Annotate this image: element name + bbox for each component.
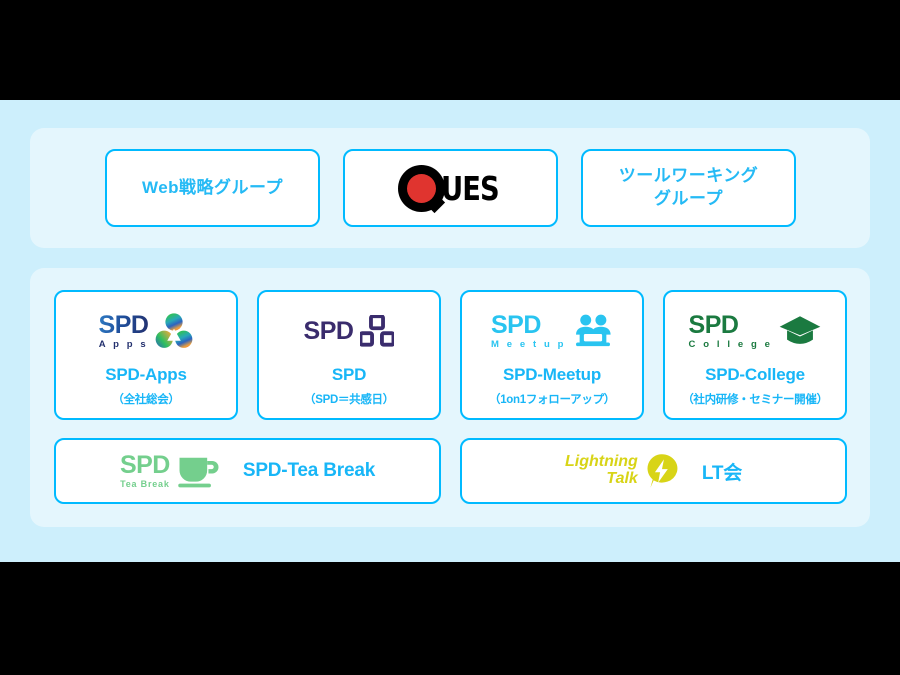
card-tool-working-group-label-line2: グループ bbox=[654, 188, 723, 211]
spd-apps-logo-word: SPD bbox=[99, 313, 149, 338]
top-groups-panel: Web戦略グループ UES ツールワーキング グループ bbox=[30, 128, 870, 248]
spd-apps-logo-text: SPD A p p s bbox=[99, 313, 149, 350]
screenshot-root: Web戦略グループ UES ツールワーキング グループ bbox=[0, 0, 900, 675]
card-spd-meetup[interactable]: SPD M e e t u p bbox=[460, 290, 644, 420]
card-ques[interactable]: UES bbox=[343, 149, 558, 227]
spd-meetup-logo-text: SPD M e e t u p bbox=[491, 313, 566, 350]
card-spd-apps-note: （全社総会） bbox=[112, 391, 179, 407]
services-panel: SPD A p p s bbox=[30, 268, 870, 527]
spd-logo-text: SPD bbox=[304, 319, 354, 344]
squares-icon bbox=[360, 315, 394, 347]
spd-college-logo-text: SPD C o l l e g e bbox=[689, 313, 773, 350]
card-spd-meetup-title: SPD-Meetup bbox=[503, 365, 601, 385]
card-lt-kai[interactable]: Lightning Talk LT会 bbox=[460, 438, 847, 504]
card-spd-college[interactable]: SPD C o l l e g e SPD-College （社内研修・セミナー… bbox=[663, 290, 847, 420]
spd-meetup-logo-word: SPD bbox=[491, 313, 566, 338]
card-spd-apps-title: SPD-Apps bbox=[105, 365, 187, 385]
letterbox-bar-bottom bbox=[0, 562, 900, 675]
spd-tea-break-logo-text: SPD Tea Break bbox=[120, 453, 170, 489]
spd-college-logo: SPD C o l l e g e bbox=[689, 308, 822, 354]
spd-tea-break-logo-word: SPD bbox=[120, 453, 170, 478]
graduation-cap-icon bbox=[779, 315, 821, 347]
lightning-talk-logo-text: Lightning Talk bbox=[565, 454, 638, 488]
ques-logo-letters: UES bbox=[441, 172, 499, 205]
slide-stage: Web戦略グループ UES ツールワーキング グループ bbox=[0, 100, 900, 562]
card-web-strategy-group[interactable]: Web戦略グループ bbox=[105, 149, 320, 227]
lightning-talk-logo: Lightning Talk bbox=[565, 453, 680, 489]
ques-logo: UES bbox=[398, 167, 504, 209]
teacup-icon bbox=[177, 454, 221, 488]
card-spd[interactable]: SPD SPD （SPD＝共感日） bbox=[257, 290, 441, 420]
card-spd-tea-break-title: SPD-Tea Break bbox=[243, 460, 375, 482]
card-spd-apps[interactable]: SPD A p p s bbox=[54, 290, 238, 420]
spd-meetup-logo-sub: M e e t u p bbox=[491, 340, 566, 350]
lightning-talk-logo-line2: Talk bbox=[565, 471, 638, 488]
card-tool-working-group-label-line1: ツールワーキング bbox=[619, 165, 759, 188]
spd-logo: SPD bbox=[304, 308, 395, 354]
people-laptop-icon bbox=[573, 314, 613, 348]
spd-logo-word: SPD bbox=[304, 319, 354, 344]
lightning-talk-logo-line1: Lightning bbox=[565, 454, 638, 471]
card-spd-college-title: SPD-College bbox=[705, 365, 805, 385]
card-lt-kai-title: LT会 bbox=[702, 458, 742, 485]
lightning-bolt-bubble-icon bbox=[644, 453, 680, 489]
card-spd-college-note: （社内研修・セミナー開催） bbox=[682, 391, 828, 407]
spd-meetup-logo: SPD M e e t u p bbox=[491, 308, 613, 354]
card-spd-tea-break[interactable]: SPD Tea Break SPD-Tea Break bbox=[54, 438, 441, 504]
spd-apps-logo-sub: A p p s bbox=[99, 340, 149, 350]
spd-tea-break-logo: SPD Tea Break bbox=[120, 448, 221, 494]
card-web-strategy-group-label: Web戦略グループ bbox=[142, 177, 283, 200]
card-spd-note: （SPD＝共感日） bbox=[304, 391, 394, 407]
spd-college-logo-word: SPD bbox=[689, 313, 773, 338]
letterbox-bar-top bbox=[0, 0, 900, 100]
ques-q-mark-icon bbox=[398, 165, 445, 212]
trefoil-icon bbox=[155, 313, 193, 349]
spd-college-logo-sub: C o l l e g e bbox=[689, 340, 773, 350]
card-spd-meetup-note: （1on1フォローアップ） bbox=[489, 391, 615, 407]
card-tool-working-group[interactable]: ツールワーキング グループ bbox=[581, 149, 796, 227]
card-spd-title: SPD bbox=[332, 365, 366, 385]
spd-tea-break-logo-sub: Tea Break bbox=[120, 480, 170, 489]
spd-apps-logo: SPD A p p s bbox=[99, 308, 194, 354]
